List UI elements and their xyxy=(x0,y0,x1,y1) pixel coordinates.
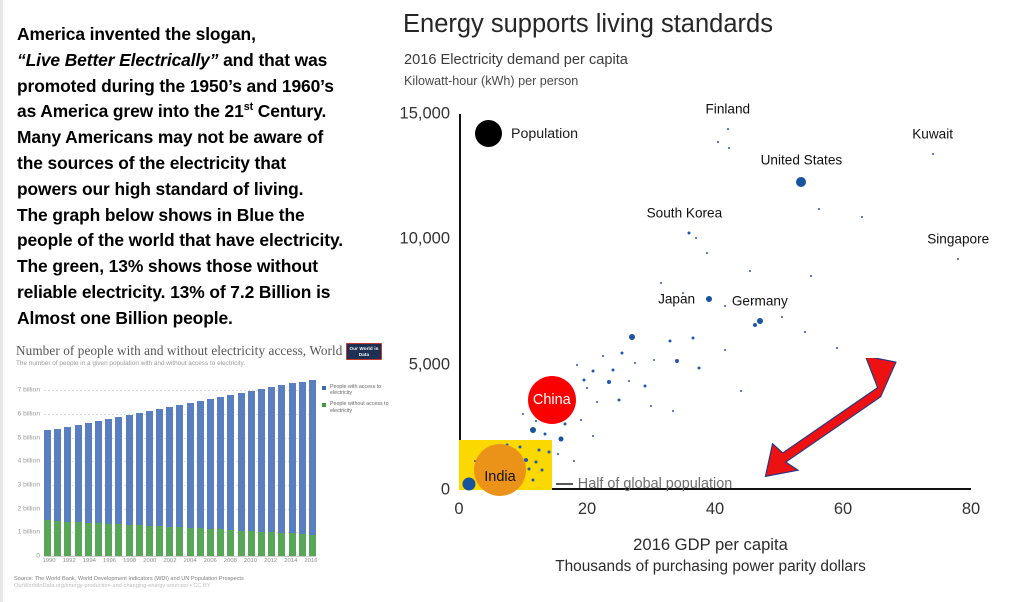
owid-bar-segment-without-access xyxy=(44,520,51,556)
scatter-point xyxy=(563,422,566,425)
owid-bar-segment-with-access xyxy=(248,391,255,531)
scatter-point-finland xyxy=(727,128,729,130)
owid-y-tick-label: 1 billion xyxy=(18,529,40,536)
owid-x-tick-label: 2002 xyxy=(163,558,176,564)
scatter-point xyxy=(602,355,604,357)
owid-bar xyxy=(207,399,214,556)
owid-bar-segment-with-access xyxy=(176,405,183,527)
scatter-point xyxy=(530,427,536,433)
bubble-label-kuwait: Kuwait xyxy=(912,127,953,142)
owid-bar xyxy=(166,407,173,556)
scatter-point xyxy=(706,252,708,254)
scatter-point xyxy=(836,347,838,349)
owid-legend: People with access to electricityPeople … xyxy=(322,384,390,419)
owid-legend-swatch xyxy=(322,403,326,407)
scatter-point-kuwait xyxy=(932,153,934,155)
population-legend: Population xyxy=(475,120,578,147)
owid-bar-segment-with-access xyxy=(197,401,204,528)
owid-legend-label: People without access to electricity xyxy=(330,401,390,413)
bubble-label-india: India xyxy=(484,469,515,485)
line-4-post: Century. xyxy=(253,101,326,121)
scatter-point xyxy=(753,323,757,327)
bubble-label-finland: Finland xyxy=(706,102,751,117)
scatter-point-south-korea xyxy=(688,232,691,235)
scatter-point xyxy=(544,432,547,435)
owid-bar-segment-with-access xyxy=(126,415,133,525)
scatter-point xyxy=(749,270,751,272)
scatter-point xyxy=(547,451,550,454)
owid-bar-segment-with-access xyxy=(105,419,112,524)
owid-bar-segment-without-access xyxy=(115,524,122,556)
owid-x-tick-label: 2012 xyxy=(264,558,277,564)
owid-bar-segment-without-access xyxy=(309,535,316,556)
scatter-point xyxy=(462,477,475,490)
owid-bar-segment-with-access xyxy=(95,421,102,523)
x-axis-tick-label: 40 xyxy=(706,500,724,519)
owid-x-tick-label: 2014 xyxy=(284,558,297,564)
owid-bar-segment-with-access xyxy=(299,382,306,534)
scatter-point xyxy=(728,147,730,149)
owid-bar xyxy=(126,415,133,556)
owid-x-tick-label: 2004 xyxy=(184,558,197,564)
scatter-plot-area: Population FinlandKuwaitUnited StatesSou… xyxy=(459,114,971,490)
scatter-point-japan xyxy=(706,296,712,302)
owid-bar-segment-with-access xyxy=(166,407,173,527)
line-10: The green, 13% shows those without xyxy=(17,256,318,276)
scatter-point xyxy=(660,282,662,284)
bubble-china: China xyxy=(528,376,576,424)
scatter-point xyxy=(528,467,531,470)
owid-bar xyxy=(197,401,204,556)
owid-plot-area: 01 billion2 billion3 billion4 billion5 b… xyxy=(44,376,316,556)
owid-bar-segment-with-access xyxy=(227,395,234,530)
line-6: the sources of the electricity that xyxy=(17,153,286,173)
y-axis-tick-label: 5,000 xyxy=(409,355,450,374)
owid-bar-segment-without-access xyxy=(156,526,163,556)
owid-y-tick-label: 7 billion xyxy=(18,387,40,394)
scatter-point xyxy=(535,420,537,422)
line-5: Many Americans may not be aware of xyxy=(17,127,323,147)
right-column: Energy supports living standards 2016 El… xyxy=(395,0,1023,602)
x-axis-subtitle: Thousands of purchasing power parity dol… xyxy=(395,558,1023,576)
owid-x-tick-label: 1998 xyxy=(123,558,136,564)
scatter-point xyxy=(874,371,876,373)
owid-bar xyxy=(268,387,275,556)
annotation-dash-icon xyxy=(556,483,573,485)
owid-chart-title: Number of people with and without electr… xyxy=(16,343,343,359)
owid-bar-segment-without-access xyxy=(136,525,143,556)
scatter-point xyxy=(618,398,621,401)
scatter-point xyxy=(607,380,611,384)
owid-x-tick-label: 2016 xyxy=(304,558,317,564)
slogan-italic: “Live Better Electrically” xyxy=(17,50,218,70)
owid-source-line1: Source: The World Bank, World Developmen… xyxy=(14,576,244,583)
owid-legend-item: People without access to electricity xyxy=(322,401,390,413)
scatter-point xyxy=(724,305,726,307)
owid-bar-segment-with-access xyxy=(207,399,214,529)
scatter-point xyxy=(818,208,820,210)
owid-bar-segment-without-access xyxy=(278,533,285,556)
scatter-point xyxy=(538,448,541,451)
owid-legend-item: People with access to electricity xyxy=(322,384,390,396)
owid-chart-subtitle: The number of people in a given populati… xyxy=(16,360,245,367)
owid-legend-label: People with access to electricity xyxy=(330,384,390,396)
owid-bar xyxy=(187,403,194,556)
owid-bar xyxy=(156,409,163,556)
line-3: promoted during the 1950’s and 1960’s xyxy=(17,76,334,96)
y-axis-tick-label: 10,000 xyxy=(400,230,450,249)
owid-bar-segment-with-access xyxy=(309,380,316,535)
owid-bar-segment-with-access xyxy=(146,411,153,526)
population-legend-label: Population xyxy=(511,126,578,142)
owid-x-tick-label: 1990 xyxy=(42,558,55,564)
owid-x-tick-label: 1994 xyxy=(83,558,96,564)
owid-bar-segment-without-access xyxy=(248,531,255,556)
owid-bar-segment-without-access xyxy=(187,528,194,556)
owid-bar-group xyxy=(44,376,316,556)
owid-x-tick-label: 2010 xyxy=(244,558,257,564)
scatter-point xyxy=(580,419,582,421)
owid-bar-segment-with-access xyxy=(44,430,51,520)
chart-subtitle: 2016 Electricity demand per capita xyxy=(404,52,628,68)
half-population-annotation-label: Half of global population xyxy=(578,476,732,492)
bubble-label-south-korea: South Korea xyxy=(647,206,723,221)
scatter-point xyxy=(582,378,585,381)
half-population-annotation: Half of global population xyxy=(556,476,732,492)
owid-bar-segment-with-access xyxy=(187,403,194,528)
owid-bar xyxy=(176,405,183,556)
owid-y-tick-label: 5 billion xyxy=(18,434,40,441)
owid-bar-segment-with-access xyxy=(289,383,296,533)
scatter-point xyxy=(717,141,719,143)
bubble-label-germany: Germany xyxy=(732,293,788,308)
scatter-point xyxy=(534,461,537,464)
scatter-point xyxy=(669,339,672,342)
y-axis-tick-label: 0 xyxy=(441,481,450,500)
scatter-point-united-states xyxy=(796,177,806,187)
line-1: America invented the slogan, xyxy=(17,24,256,44)
owid-y-tick-label: 3 billion xyxy=(18,481,40,488)
scatter-point xyxy=(672,410,674,412)
owid-bar-segment-with-access xyxy=(115,417,122,524)
owid-bar xyxy=(75,425,82,556)
bubble-label-japan: Japan xyxy=(658,292,695,307)
owid-x-tick-label: 2000 xyxy=(143,558,156,564)
owid-bar-segment-with-access xyxy=(268,387,275,532)
narrative-paragraph: America invented the slogan, “Live Bette… xyxy=(17,22,387,332)
scatter-point xyxy=(621,352,624,355)
owid-bar-segment-without-access xyxy=(176,527,183,556)
owid-bar-segment-with-access xyxy=(258,389,265,531)
owid-bar-segment-with-access xyxy=(54,429,61,521)
scatter-point xyxy=(629,334,635,340)
scatter-point xyxy=(592,435,594,437)
owid-bar xyxy=(248,391,255,556)
owid-bar-segment-without-access xyxy=(238,531,245,556)
owid-bar-segment-with-access xyxy=(85,423,92,523)
owid-bar-segment-with-access xyxy=(136,413,143,525)
scatter-point xyxy=(634,362,636,364)
scatter-point xyxy=(653,359,655,361)
owid-bar xyxy=(44,430,51,556)
chart-units: Kilowatt-hour (kWh) per person xyxy=(404,74,578,88)
owid-bar-segment-without-access xyxy=(289,533,296,556)
owid-bar xyxy=(105,419,112,556)
scatter-point xyxy=(592,369,595,372)
owid-bar xyxy=(64,427,71,556)
owid-bar-segment-without-access xyxy=(166,527,173,556)
x-axis-tick-label: 80 xyxy=(962,500,980,519)
scatter-point-germany xyxy=(757,318,763,324)
owid-bar-segment-with-access xyxy=(156,409,163,526)
owid-x-tick-label: 2006 xyxy=(204,558,217,564)
left-column: America invented the slogan, “Live Bette… xyxy=(3,0,395,602)
scatter-point xyxy=(740,390,742,392)
scatter-point xyxy=(573,460,575,462)
scatter-point xyxy=(643,384,646,387)
y-axis-line xyxy=(459,114,461,490)
scatter-point xyxy=(576,364,578,366)
owid-bar xyxy=(227,395,234,556)
owid-bar xyxy=(258,389,265,556)
owid-logo-line1: Our World xyxy=(350,346,373,351)
scatter-point-singapore xyxy=(957,258,959,260)
owid-x-tick-label: 1992 xyxy=(63,558,76,564)
owid-y-tick-label: 0 xyxy=(36,553,40,560)
line-4-pre: as America grew into the 21 xyxy=(17,101,244,121)
owid-x-axis: 1990199219941996199820002002200420062008… xyxy=(44,558,316,568)
scatter-point xyxy=(724,349,726,351)
line-11: reliable electricity. 13% of 7.2 Billion… xyxy=(17,282,330,302)
owid-bar-segment-without-access xyxy=(207,529,214,556)
owid-bar xyxy=(278,385,285,556)
owid-bar-segment-without-access xyxy=(105,524,112,556)
scatter-point xyxy=(518,446,521,449)
owid-bar-segment-without-access xyxy=(54,521,61,556)
scatter-point xyxy=(596,401,598,403)
page-title: Energy supports living standards xyxy=(403,10,773,39)
scatter-point xyxy=(586,387,588,389)
owid-bar-chart: Number of people with and without electr… xyxy=(8,340,390,598)
owid-bar-segment-without-access xyxy=(268,532,275,556)
owid-legend-swatch xyxy=(322,386,326,390)
y-axis-tick-label: 15,000 xyxy=(400,105,450,124)
owid-bar xyxy=(299,382,306,556)
owid-bar xyxy=(136,413,143,556)
owid-bar-segment-without-access xyxy=(217,529,224,556)
bubble-label-united-states: United States xyxy=(761,152,843,167)
owid-bar xyxy=(146,411,153,556)
scatter-point xyxy=(698,367,701,370)
slide-root: America invented the slogan, “Live Bette… xyxy=(0,0,1023,602)
scatter-point xyxy=(861,216,863,218)
scatter-point xyxy=(541,468,544,471)
owid-x-axis-line xyxy=(44,556,316,557)
owid-bar xyxy=(238,393,245,556)
owid-source-line2: OurWorldInData.org/energy-production-and… xyxy=(14,583,244,590)
owid-bar xyxy=(54,429,61,556)
scatter-point xyxy=(691,337,694,340)
owid-bar-segment-without-access xyxy=(85,523,92,556)
our-world-in-data-logo: Our World in Data xyxy=(346,343,382,360)
line-12: Almost one Billion people. xyxy=(17,308,233,328)
owid-bar xyxy=(217,397,224,556)
owid-y-tick-label: 6 billion xyxy=(18,410,40,417)
scatter-point xyxy=(695,237,697,239)
x-axis-title: 2016 GDP per capita xyxy=(395,535,1023,555)
scatter-point xyxy=(557,453,559,455)
owid-bar-segment-without-access xyxy=(197,528,204,556)
owid-bar-segment-with-access xyxy=(75,425,82,522)
owid-bar-segment-with-access xyxy=(64,427,71,522)
scatter-point xyxy=(804,331,806,333)
owid-bar xyxy=(95,421,102,556)
scatter-point xyxy=(559,436,564,441)
owid-bar-segment-without-access xyxy=(146,526,153,556)
scatter-point xyxy=(675,359,679,363)
scatter-point xyxy=(810,275,812,277)
owid-bar-segment-without-access xyxy=(75,522,82,556)
owid-bar-segment-without-access xyxy=(258,532,265,556)
owid-x-tick-label: 1996 xyxy=(103,558,116,564)
scatter-point xyxy=(650,405,652,407)
owid-bar xyxy=(289,383,296,556)
x-axis-tick-label: 20 xyxy=(578,500,596,519)
owid-bar-segment-with-access xyxy=(238,393,245,530)
owid-bar-segment-with-access xyxy=(278,385,285,532)
owid-bar-segment-without-access xyxy=(227,530,234,556)
owid-y-tick-label: 4 billion xyxy=(18,458,40,465)
owid-y-tick-label: 2 billion xyxy=(18,505,40,512)
owid-bar xyxy=(85,423,92,556)
scatter-point xyxy=(522,413,524,415)
ordinal-suffix: st xyxy=(244,102,253,114)
population-legend-dot-icon xyxy=(475,120,502,147)
owid-bar xyxy=(115,417,122,556)
bubble-label-singapore: Singapore xyxy=(927,232,989,247)
x-axis-tick-label: 60 xyxy=(834,500,852,519)
scatter-point xyxy=(611,368,614,371)
scatter-point xyxy=(628,380,630,382)
owid-bar-segment-without-access xyxy=(299,534,306,556)
line-2-tail: and that was xyxy=(218,50,327,70)
owid-bar xyxy=(309,380,316,556)
owid-bar-segment-without-access xyxy=(64,522,71,556)
owid-x-tick-label: 2008 xyxy=(224,558,237,564)
owid-source-note: Source: The World Bank, World Developmen… xyxy=(14,576,244,590)
owid-bar-segment-without-access xyxy=(95,523,102,556)
owid-bar-segment-without-access xyxy=(126,525,133,556)
line-7: powers our high standard of living. xyxy=(17,179,303,199)
x-axis-tick-label: 0 xyxy=(454,500,463,519)
scatter-point xyxy=(781,316,783,318)
scatter-point xyxy=(531,478,534,481)
owid-bar-segment-with-access xyxy=(217,397,224,529)
line-8: The graph below shows in Blue the xyxy=(17,205,305,225)
line-9: people of the world that have electricit… xyxy=(17,230,343,250)
